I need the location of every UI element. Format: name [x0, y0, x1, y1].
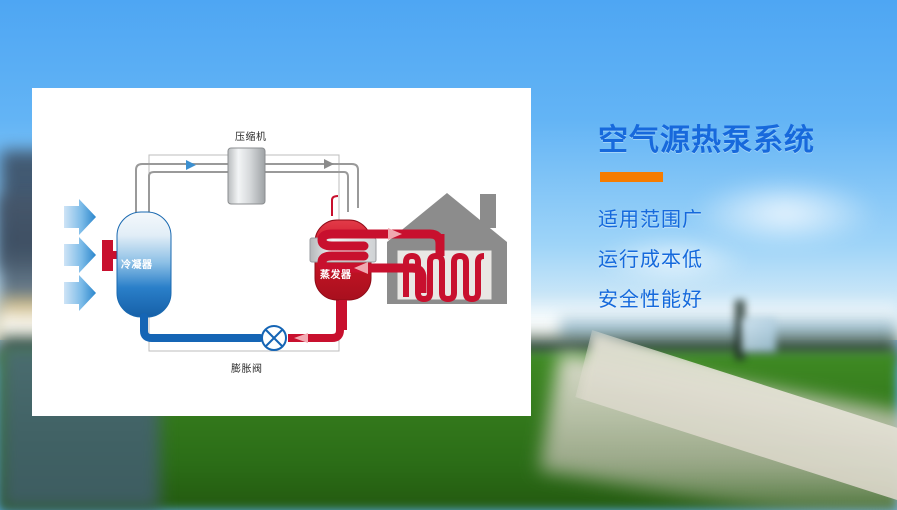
- compressor-body: [228, 148, 265, 204]
- slide-canvas: 压缩机 冷凝器 蒸发器 膨胀阀 空气源热泵系统 适用范围广 运行成本低 安全性能…: [0, 0, 897, 510]
- diagram-svg: [32, 88, 531, 416]
- air-arrow-2: [64, 237, 96, 273]
- bullet-item-3: 安全性能好: [598, 280, 888, 320]
- bullet-item-1: 适用范围广: [598, 200, 888, 240]
- heat-pump-diagram: 压缩机 冷凝器 蒸发器 膨胀阀: [32, 88, 531, 416]
- title-divider: [600, 172, 663, 182]
- air-arrow-1: [64, 199, 96, 235]
- expansion-valve: [262, 326, 286, 350]
- page-title: 空气源热泵系统: [598, 122, 888, 160]
- bullet-item-2: 运行成本低: [598, 240, 888, 280]
- label-evaporator: 蒸发器: [320, 266, 352, 281]
- air-arrow-3: [64, 275, 96, 311]
- text-column: 空气源热泵系统 适用范围广 运行成本低 安全性能好: [598, 122, 888, 320]
- label-expansion-valve: 膨胀阀: [231, 360, 263, 375]
- roadside-sign: [742, 318, 776, 352]
- label-compressor: 压缩机: [235, 128, 267, 143]
- label-condenser: 冷凝器: [121, 256, 153, 271]
